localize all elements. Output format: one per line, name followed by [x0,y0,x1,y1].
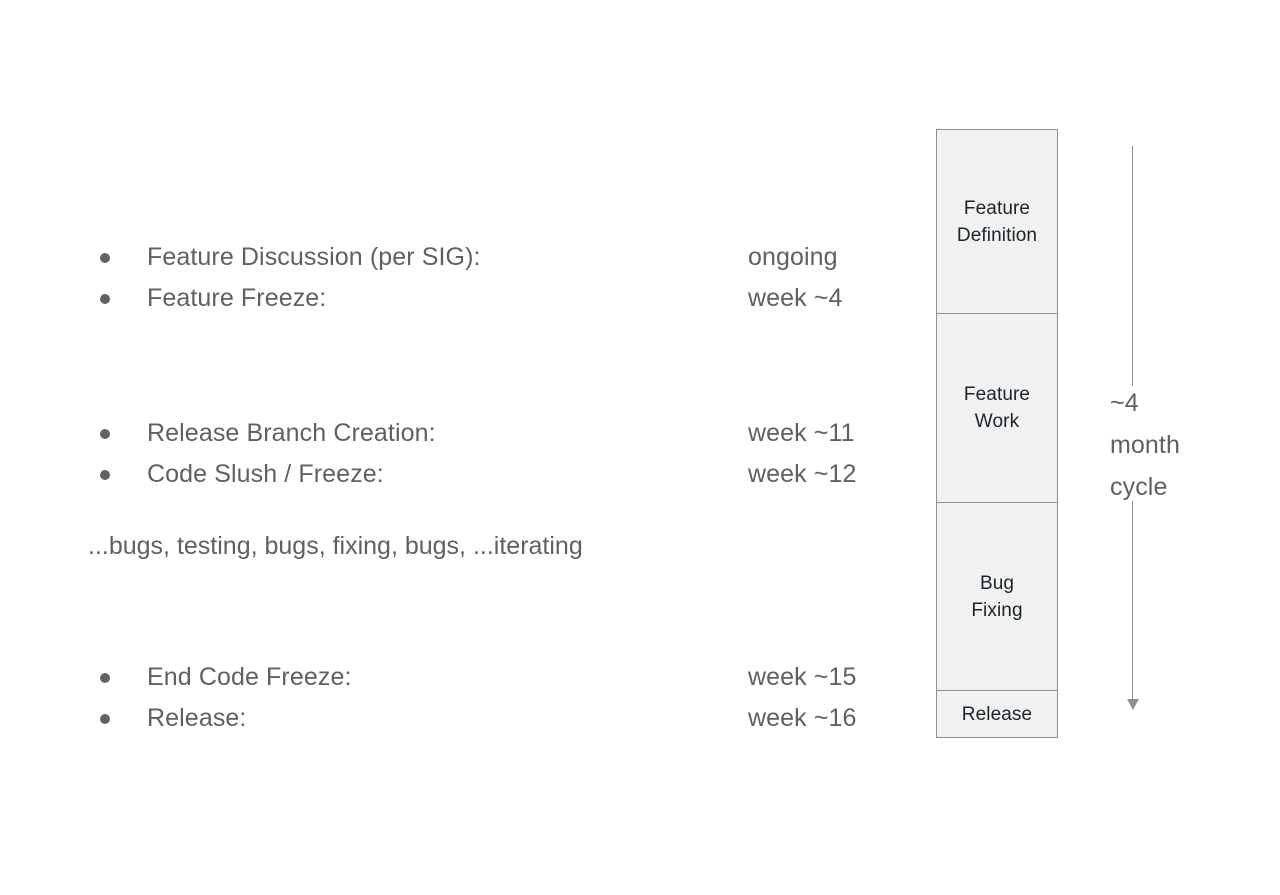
schedule-item-label: Code Slush / Freeze: [147,454,384,495]
schedule-item-label: Release: [147,698,246,739]
schedule-item-value: week ~11 [748,413,855,454]
cycle-arrow-line-bottom [1132,501,1133,701]
schedule-item-value: week ~4 [748,278,843,319]
arrow-down-icon [1127,699,1139,710]
bullet-icon [100,714,110,724]
schedule-item-label: Feature Discussion (per SIG): [147,237,481,278]
slide-canvas: Feature Discussion (per SIG): ongoing Fe… [0,0,1280,895]
schedule-item-value: ongoing [748,237,838,278]
schedule-item-label: Feature Freeze: [147,278,326,319]
schedule-group-feature: Feature Discussion (per SIG): ongoing Fe… [88,237,908,319]
cycle-arrow-line-top [1132,146,1133,386]
list-item: Feature Freeze: week ~4 [88,278,908,319]
list-item: Code Slush / Freeze: week ~12 [88,454,908,495]
phase-feature-work: Feature Work [937,314,1057,503]
phase-label: Feature Definition [957,195,1037,249]
schedule-group-branch: Release Branch Creation: week ~11 Code S… [88,413,908,495]
bullet-icon [100,673,110,683]
cycle-duration-label: ~4 month cycle [1110,382,1180,508]
phase-release: Release [937,691,1057,737]
phase-feature-definition: Feature Definition [937,130,1057,314]
list-item: End Code Freeze: week ~15 [88,657,908,698]
list-item: Release: week ~16 [88,698,908,739]
iteration-note: ...bugs, testing, bugs, fixing, bugs, ..… [88,526,583,567]
schedule-item-value: week ~16 [748,698,857,739]
phase-bug-fixing: Bug Fixing [937,503,1057,691]
phase-label: Release [962,701,1032,728]
bullet-icon [100,253,110,263]
schedule-group-release: End Code Freeze: week ~15 Release: week … [88,657,908,739]
phase-column: Feature Definition Feature Work Bug Fixi… [936,129,1058,738]
cycle-duration-annotation: ~4 month cycle [1100,129,1260,738]
schedule-item-value: week ~15 [748,657,857,698]
bullet-icon [100,429,110,439]
list-item: Feature Discussion (per SIG): ongoing [88,237,908,278]
bullet-icon [100,294,110,304]
bullet-icon [100,470,110,480]
schedule-item-label: End Code Freeze: [147,657,352,698]
phase-label: Feature Work [964,381,1030,435]
schedule-item-label: Release Branch Creation: [147,413,436,454]
list-item: Release Branch Creation: week ~11 [88,413,908,454]
phase-label: Bug Fixing [971,570,1022,624]
schedule-item-value: week ~12 [748,454,857,495]
